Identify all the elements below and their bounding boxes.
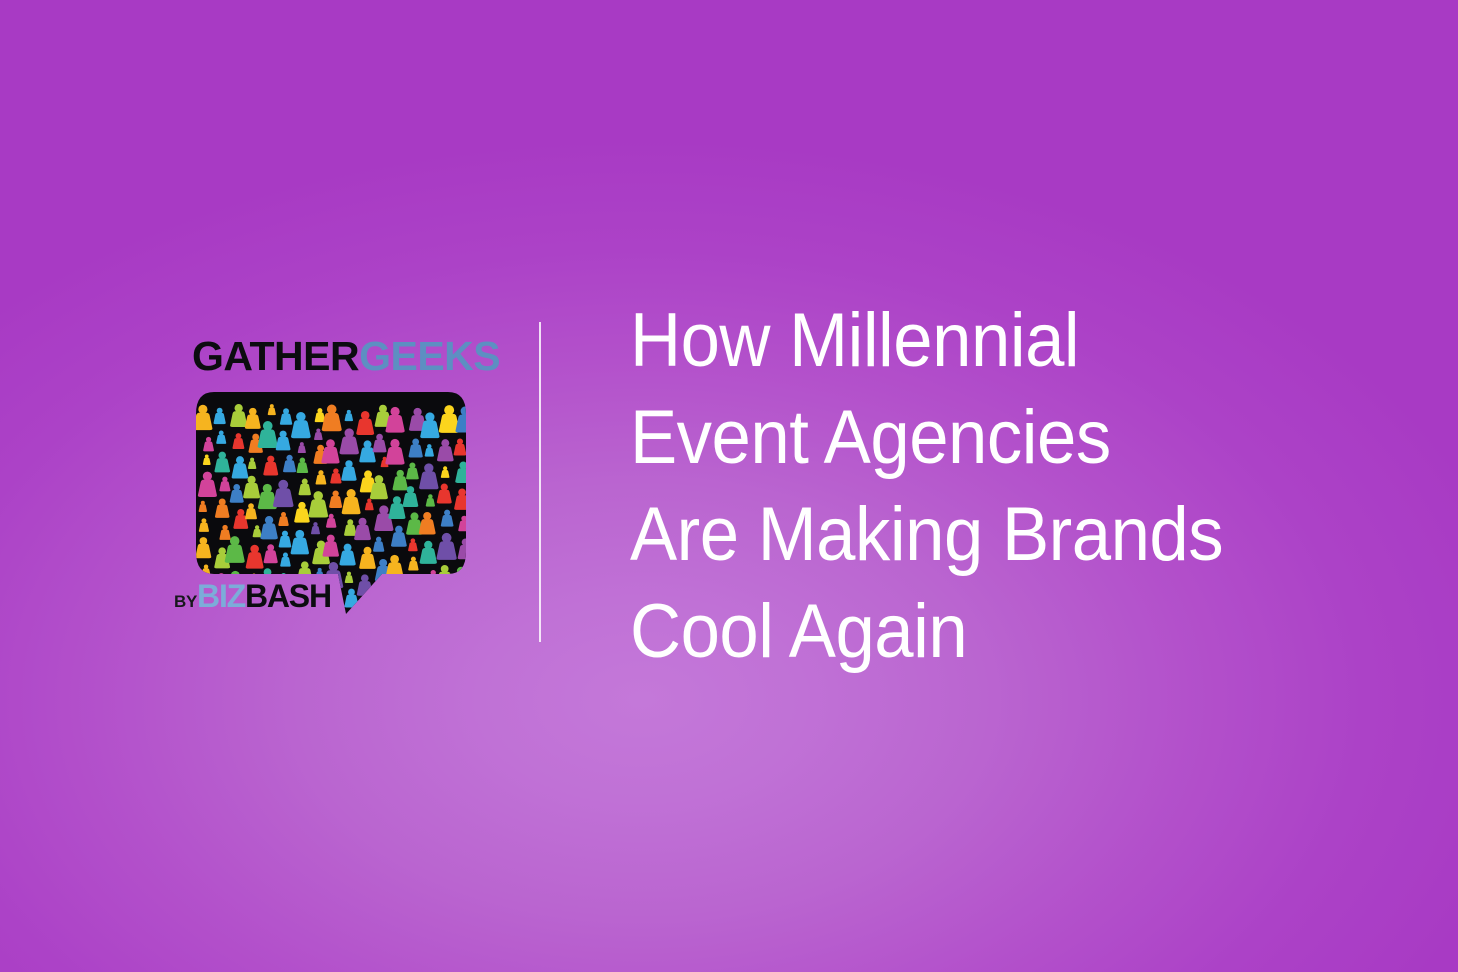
byline-prefix: BY	[174, 592, 197, 611]
title-line-4: Cool Again	[630, 583, 1337, 680]
title-line-3: Are Making Brands	[630, 486, 1337, 583]
title-line-2: Event Agencies	[630, 389, 1337, 486]
vertical-divider	[539, 322, 541, 642]
wordmark-gather: GATHER	[192, 333, 359, 379]
episode-title: How Millennial Event Agencies Are Making…	[630, 292, 1337, 680]
gathergeeks-logo: GATHERGEEKS BYBIZBASH	[168, 322, 478, 642]
title-line-1: How Millennial	[630, 292, 1337, 389]
byline-bash: BASH	[245, 578, 331, 614]
podcast-title-slide: GATHERGEEKS BYBIZBASH How Millennial Eve…	[0, 0, 1458, 972]
gathergeeks-wordmark: GATHERGEEKS	[192, 336, 500, 377]
wordmark-geeks: GEEKS	[359, 333, 500, 379]
byline-biz: BIZ	[197, 578, 245, 614]
bizbash-byline: BYBIZBASH	[174, 580, 331, 612]
